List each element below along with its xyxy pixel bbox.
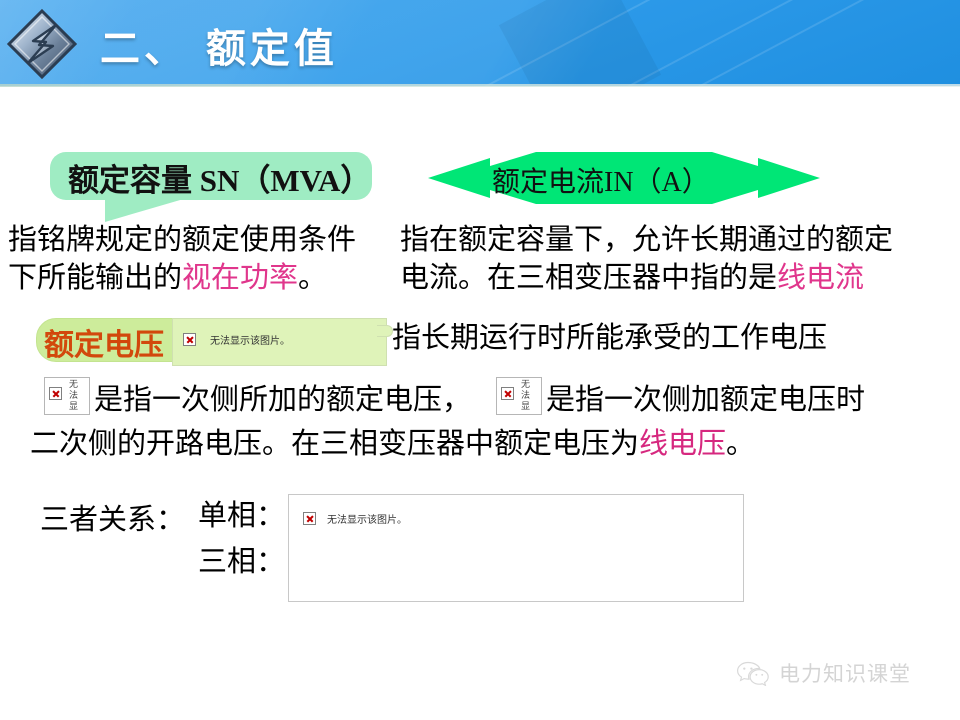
header-bottom-edge bbox=[0, 84, 960, 87]
capacity-desc-line2-pre: 下所能输出的 bbox=[8, 260, 182, 294]
current-desc-line2: 电流。在三相变压器中指的是线电流 bbox=[400, 258, 864, 296]
voltage-detail-emphasis: 线电压 bbox=[639, 426, 726, 460]
header-shade bbox=[499, 0, 661, 86]
voltage-desc: 指长期运行时所能承受的工作电压 bbox=[392, 318, 827, 356]
watermark: 电力知识课堂 bbox=[736, 658, 911, 688]
capacity-desc-emphasis: 视在功率 bbox=[182, 260, 298, 294]
page-title: 二、 额定值 bbox=[100, 16, 338, 74]
current-desc-emphasis: 线电流 bbox=[777, 260, 864, 294]
callout-rated-capacity-tail bbox=[105, 198, 187, 222]
broken-image-label: 无法显示该图片。 bbox=[327, 515, 407, 526]
capacity-desc-line2: 下所能输出的视在功率。 bbox=[8, 258, 327, 296]
inline-broken-image-primary: 无法显 bbox=[44, 377, 90, 415]
capacity-desc-line1: 指铭牌规定的额定使用条件 bbox=[8, 220, 356, 258]
callout-rated-voltage-label: 额定电压 bbox=[44, 320, 164, 364]
watermark-text: 电力知识课堂 bbox=[779, 658, 911, 688]
broken-image-label: 无法显 bbox=[69, 380, 80, 413]
relation-formula-image-box: 无法显示该图片。 bbox=[288, 494, 744, 602]
voltage-broken-image-box: 无法显示该图片。 bbox=[172, 318, 387, 366]
voltage-detail-line1-a: 是指一次侧所加的额定电压， bbox=[94, 380, 471, 418]
voltage-detail-line2-pre: 二次侧的开路电压。在三相变压器中额定电压为 bbox=[30, 426, 639, 460]
lightning-diamond-logo bbox=[6, 8, 78, 80]
broken-image-label: 无法显 bbox=[521, 380, 532, 413]
relation-title: 三者关系： bbox=[40, 500, 185, 538]
relation-single-phase-label: 单相： bbox=[198, 496, 285, 534]
broken-image-label: 无法显示该图片。 bbox=[210, 332, 290, 347]
current-desc-line2-pre: 电流。在三相变压器中指的是 bbox=[400, 260, 777, 294]
callout-rated-capacity-label: 额定容量 SN（MVA） bbox=[68, 155, 371, 200]
relation-three-phase-label: 三相： bbox=[198, 542, 285, 580]
inline-broken-image-secondary: 无法显 bbox=[496, 377, 542, 415]
current-desc-line1: 指在额定容量下，允许长期通过的额定 bbox=[400, 220, 893, 258]
voltage-detail-line2: 二次侧的开路电压。在三相变压器中额定电压为线电压。 bbox=[30, 424, 755, 462]
capacity-desc-line2-post: 。 bbox=[298, 260, 327, 294]
voltage-detail-line1-b: 是指一次侧加额定电压时 bbox=[546, 380, 865, 418]
broken-image-icon bbox=[501, 387, 514, 400]
callout-rated-current-label: 额定电流IN（A） bbox=[492, 160, 710, 200]
broken-image-icon bbox=[183, 333, 196, 346]
wechat-icon bbox=[736, 660, 770, 686]
broken-image-icon bbox=[49, 387, 62, 400]
slide-canvas: 二、 额定值 额定容量 SN（MVA） 额定电流IN（A） 指铭牌规定的额定使用… bbox=[0, 0, 960, 720]
voltage-broken-image-notch bbox=[377, 325, 393, 337]
broken-image-icon bbox=[303, 512, 316, 525]
voltage-detail-line2-post: 。 bbox=[726, 426, 755, 460]
relation-broken-image: 无法显示该图片。 bbox=[303, 509, 407, 527]
